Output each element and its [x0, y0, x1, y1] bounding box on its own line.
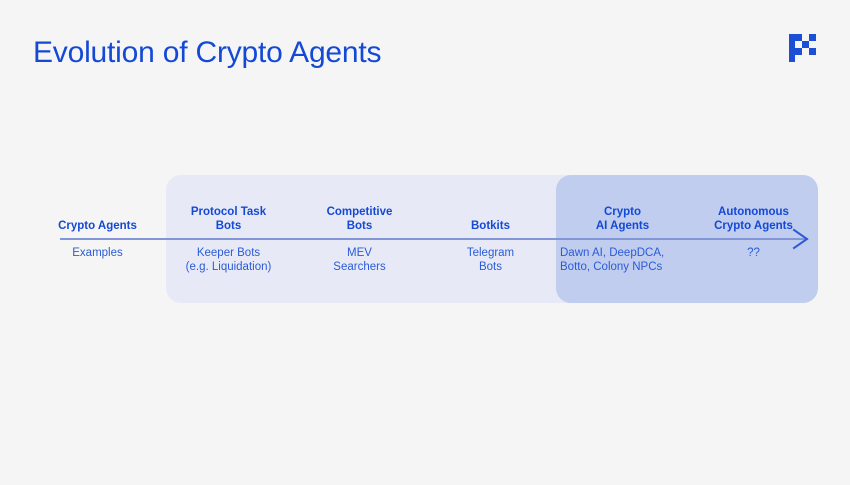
stage-example: MEV Searchers	[297, 247, 422, 274]
stage-example: Keeper Bots (e.g. Liquidation)	[166, 247, 291, 274]
row-label-column: Crypto Agents Examples	[40, 175, 155, 303]
stage-crypto-ai-agents[interactable]: Crypto AI Agents Dawn AI, DeepDCA, Botto…	[560, 175, 685, 303]
stage-protocol-task-bots[interactable]: Protocol Task Bots Keeper Bots (e.g. Liq…	[166, 175, 291, 303]
stage-botkits[interactable]: Botkits Telegram Bots	[428, 175, 553, 303]
stage-header: Crypto AI Agents	[560, 206, 685, 233]
stage-header: Autonomous Crypto Agents	[691, 206, 816, 233]
stage-header: Competitive Bots	[297, 206, 422, 233]
row-label-header: Crypto Agents	[40, 220, 155, 234]
stage-header: Protocol Task Bots	[166, 206, 291, 233]
stage-example: Dawn AI, DeepDCA, Botto, Colony NPCs	[560, 247, 685, 274]
stage-header: Botkits	[428, 220, 553, 234]
stage-example: Telegram Bots	[428, 247, 553, 274]
stage-autonomous-crypto-agents[interactable]: Autonomous Crypto Agents ??	[691, 175, 816, 303]
stage-competitive-bots[interactable]: Competitive Bots MEV Searchers	[297, 175, 422, 303]
row-label-examples: Examples	[40, 247, 155, 261]
evolution-diagram: Crypto Agents Examples Protocol Task Bot…	[0, 0, 850, 485]
stage-example: ??	[691, 247, 816, 261]
